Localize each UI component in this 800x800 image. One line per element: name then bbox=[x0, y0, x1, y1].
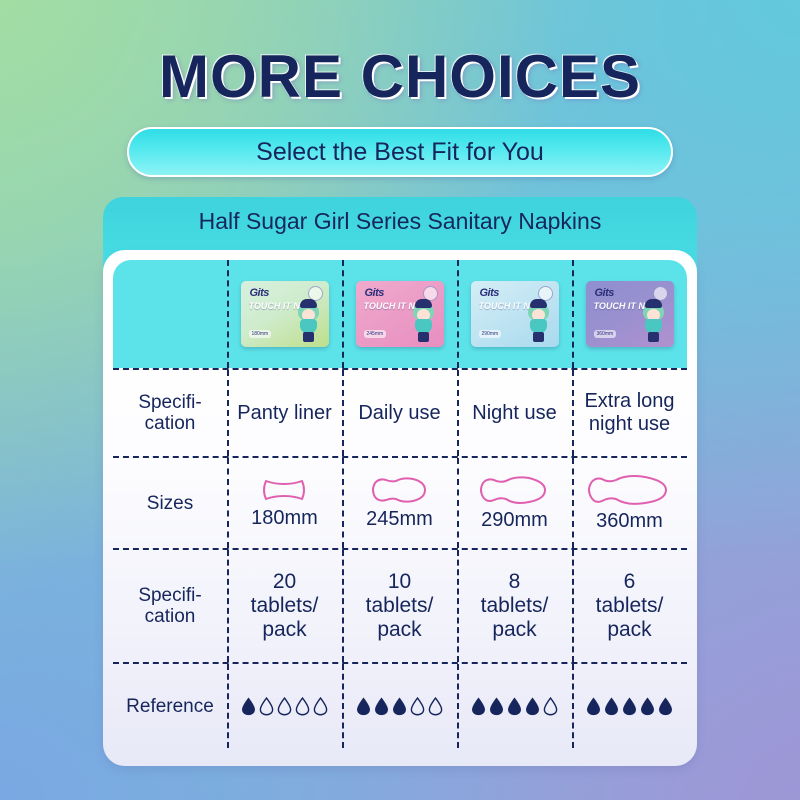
table-row-sizes: Sizes 180mm 245mm bbox=[113, 458, 687, 548]
product-cell-3[interactable]: Gits TOUCH IT NOW 290mm bbox=[457, 260, 572, 368]
pack-character-2 bbox=[411, 299, 437, 343]
size-value-2: 245mm bbox=[366, 508, 433, 531]
sizes-cell-1: 180mm bbox=[227, 458, 342, 548]
infographic-stage: MORE CHOICES Select the Best Fit for You… bbox=[0, 0, 800, 800]
droplet-outline-icon bbox=[259, 697, 274, 716]
product-cell-1[interactable]: Gits TOUCH IT NOW 180mm bbox=[227, 260, 342, 368]
pack-character-1 bbox=[296, 299, 322, 343]
pack-character-3 bbox=[526, 299, 552, 343]
pack-size-chip-4: 360mm bbox=[594, 330, 617, 338]
size-value-4: 360mm bbox=[596, 510, 663, 533]
sizes-cell-4: 360mm bbox=[572, 458, 687, 548]
droplet-filled-icon bbox=[525, 697, 540, 716]
pad-shape-icon-2 bbox=[363, 475, 437, 505]
reference-cell-1 bbox=[227, 664, 342, 748]
pad-shape-icon-3 bbox=[473, 474, 557, 506]
droplet-filled-icon bbox=[586, 697, 601, 716]
table-row-quantity: Specifi- cation 20tablets/pack 10tablets… bbox=[113, 550, 687, 662]
quantity-value-3: 8tablets/pack bbox=[457, 550, 572, 662]
droplet-outline-icon bbox=[428, 697, 443, 716]
product-cell-2[interactable]: Gits TOUCH IT NOW 245mm bbox=[342, 260, 457, 368]
droplet-filled-icon bbox=[507, 697, 522, 716]
row-label-quantity-line1: Specifi- bbox=[138, 585, 201, 606]
droplet-filled-icon bbox=[471, 697, 486, 716]
droplet-outline-icon bbox=[295, 697, 310, 716]
comparison-card: Gits TOUCH IT NOW 180mm Gits TOUCH IT NO… bbox=[103, 250, 697, 766]
pad-shape-icon-1 bbox=[252, 476, 316, 504]
droplet-filled-icon bbox=[489, 697, 504, 716]
row-label-sizes: Sizes bbox=[113, 458, 227, 548]
subtitle-text: Select the Best Fit for You bbox=[256, 138, 544, 167]
droplet-filled-icon bbox=[241, 697, 256, 716]
reference-cell-2 bbox=[342, 664, 457, 748]
pack-size-chip-3: 290mm bbox=[479, 330, 502, 338]
table-row-specification: Specifi- cation Panty liner Daily use Ni… bbox=[113, 370, 687, 456]
droplet-outline-icon bbox=[543, 697, 558, 716]
row-label-reference: Reference bbox=[113, 664, 227, 748]
droplet-outline-icon bbox=[410, 697, 425, 716]
droplet-filled-icon bbox=[392, 697, 407, 716]
quantity-value-1: 20tablets/pack bbox=[227, 550, 342, 662]
absorbency-rating-3 bbox=[471, 697, 558, 716]
absorbency-rating-4 bbox=[586, 697, 673, 716]
specification-value-4: Extra longnight use bbox=[572, 370, 687, 456]
pack-brand-2: Gits bbox=[365, 287, 384, 299]
size-value-1: 180mm bbox=[251, 507, 318, 530]
pack-character-4 bbox=[641, 299, 667, 343]
droplet-filled-icon bbox=[374, 697, 389, 716]
daily-use-pack-image: Gits TOUCH IT NOW 245mm bbox=[356, 281, 444, 347]
droplet-filled-icon bbox=[622, 697, 637, 716]
row-label-specification-line1: Specifi- bbox=[138, 392, 201, 413]
reference-cell-4 bbox=[572, 664, 687, 748]
droplet-filled-icon bbox=[640, 697, 655, 716]
row-label-specification: Specifi- cation bbox=[113, 370, 227, 456]
extra-long-pack-image: Gits TOUCH IT NOW 360mm bbox=[586, 281, 674, 347]
row-label-products bbox=[113, 260, 227, 368]
pack-size-chip-1: 180mm bbox=[249, 330, 272, 338]
pack-brand-4: Gits bbox=[595, 287, 614, 299]
row-label-specification-line2: cation bbox=[145, 413, 196, 434]
subtitle-pill: Select the Best Fit for You bbox=[127, 127, 673, 177]
specification-value-3: Night use bbox=[457, 370, 572, 456]
series-banner-text: Half Sugar Girl Series Sanitary Napkins bbox=[103, 208, 697, 235]
product-cell-4[interactable]: Gits TOUCH IT NOW 360mm bbox=[572, 260, 687, 368]
reference-cell-3 bbox=[457, 664, 572, 748]
absorbency-rating-1 bbox=[241, 697, 328, 716]
absorbency-rating-2 bbox=[356, 697, 443, 716]
row-label-quantity-line2: cation bbox=[145, 606, 196, 627]
specification-value-1: Panty liner bbox=[227, 370, 342, 456]
pack-size-chip-2: 245mm bbox=[364, 330, 387, 338]
sizes-cell-2: 245mm bbox=[342, 458, 457, 548]
droplet-filled-icon bbox=[604, 697, 619, 716]
droplet-outline-icon bbox=[313, 697, 328, 716]
comparison-table: Gits TOUCH IT NOW 180mm Gits TOUCH IT NO… bbox=[113, 260, 687, 756]
table-row-products: Gits TOUCH IT NOW 180mm Gits TOUCH IT NO… bbox=[113, 260, 687, 368]
size-value-3: 290mm bbox=[481, 509, 548, 532]
quantity-value-4: 6tablets/pack bbox=[572, 550, 687, 662]
panty-liner-pack-image: Gits TOUCH IT NOW 180mm bbox=[241, 281, 329, 347]
pack-brand-1: Gits bbox=[250, 287, 269, 299]
pad-shape-icon-4 bbox=[582, 473, 678, 507]
sizes-cell-3: 290mm bbox=[457, 458, 572, 548]
page-title: MORE CHOICES bbox=[0, 42, 800, 111]
droplet-filled-icon bbox=[356, 697, 371, 716]
table-row-reference: Reference bbox=[113, 664, 687, 748]
droplet-outline-icon bbox=[277, 697, 292, 716]
quantity-value-2: 10tablets/pack bbox=[342, 550, 457, 662]
row-label-quantity: Specifi- cation bbox=[113, 550, 227, 662]
pack-brand-3: Gits bbox=[480, 287, 499, 299]
droplet-filled-icon bbox=[658, 697, 673, 716]
specification-value-2: Daily use bbox=[342, 370, 457, 456]
night-use-pack-image: Gits TOUCH IT NOW 290mm bbox=[471, 281, 559, 347]
